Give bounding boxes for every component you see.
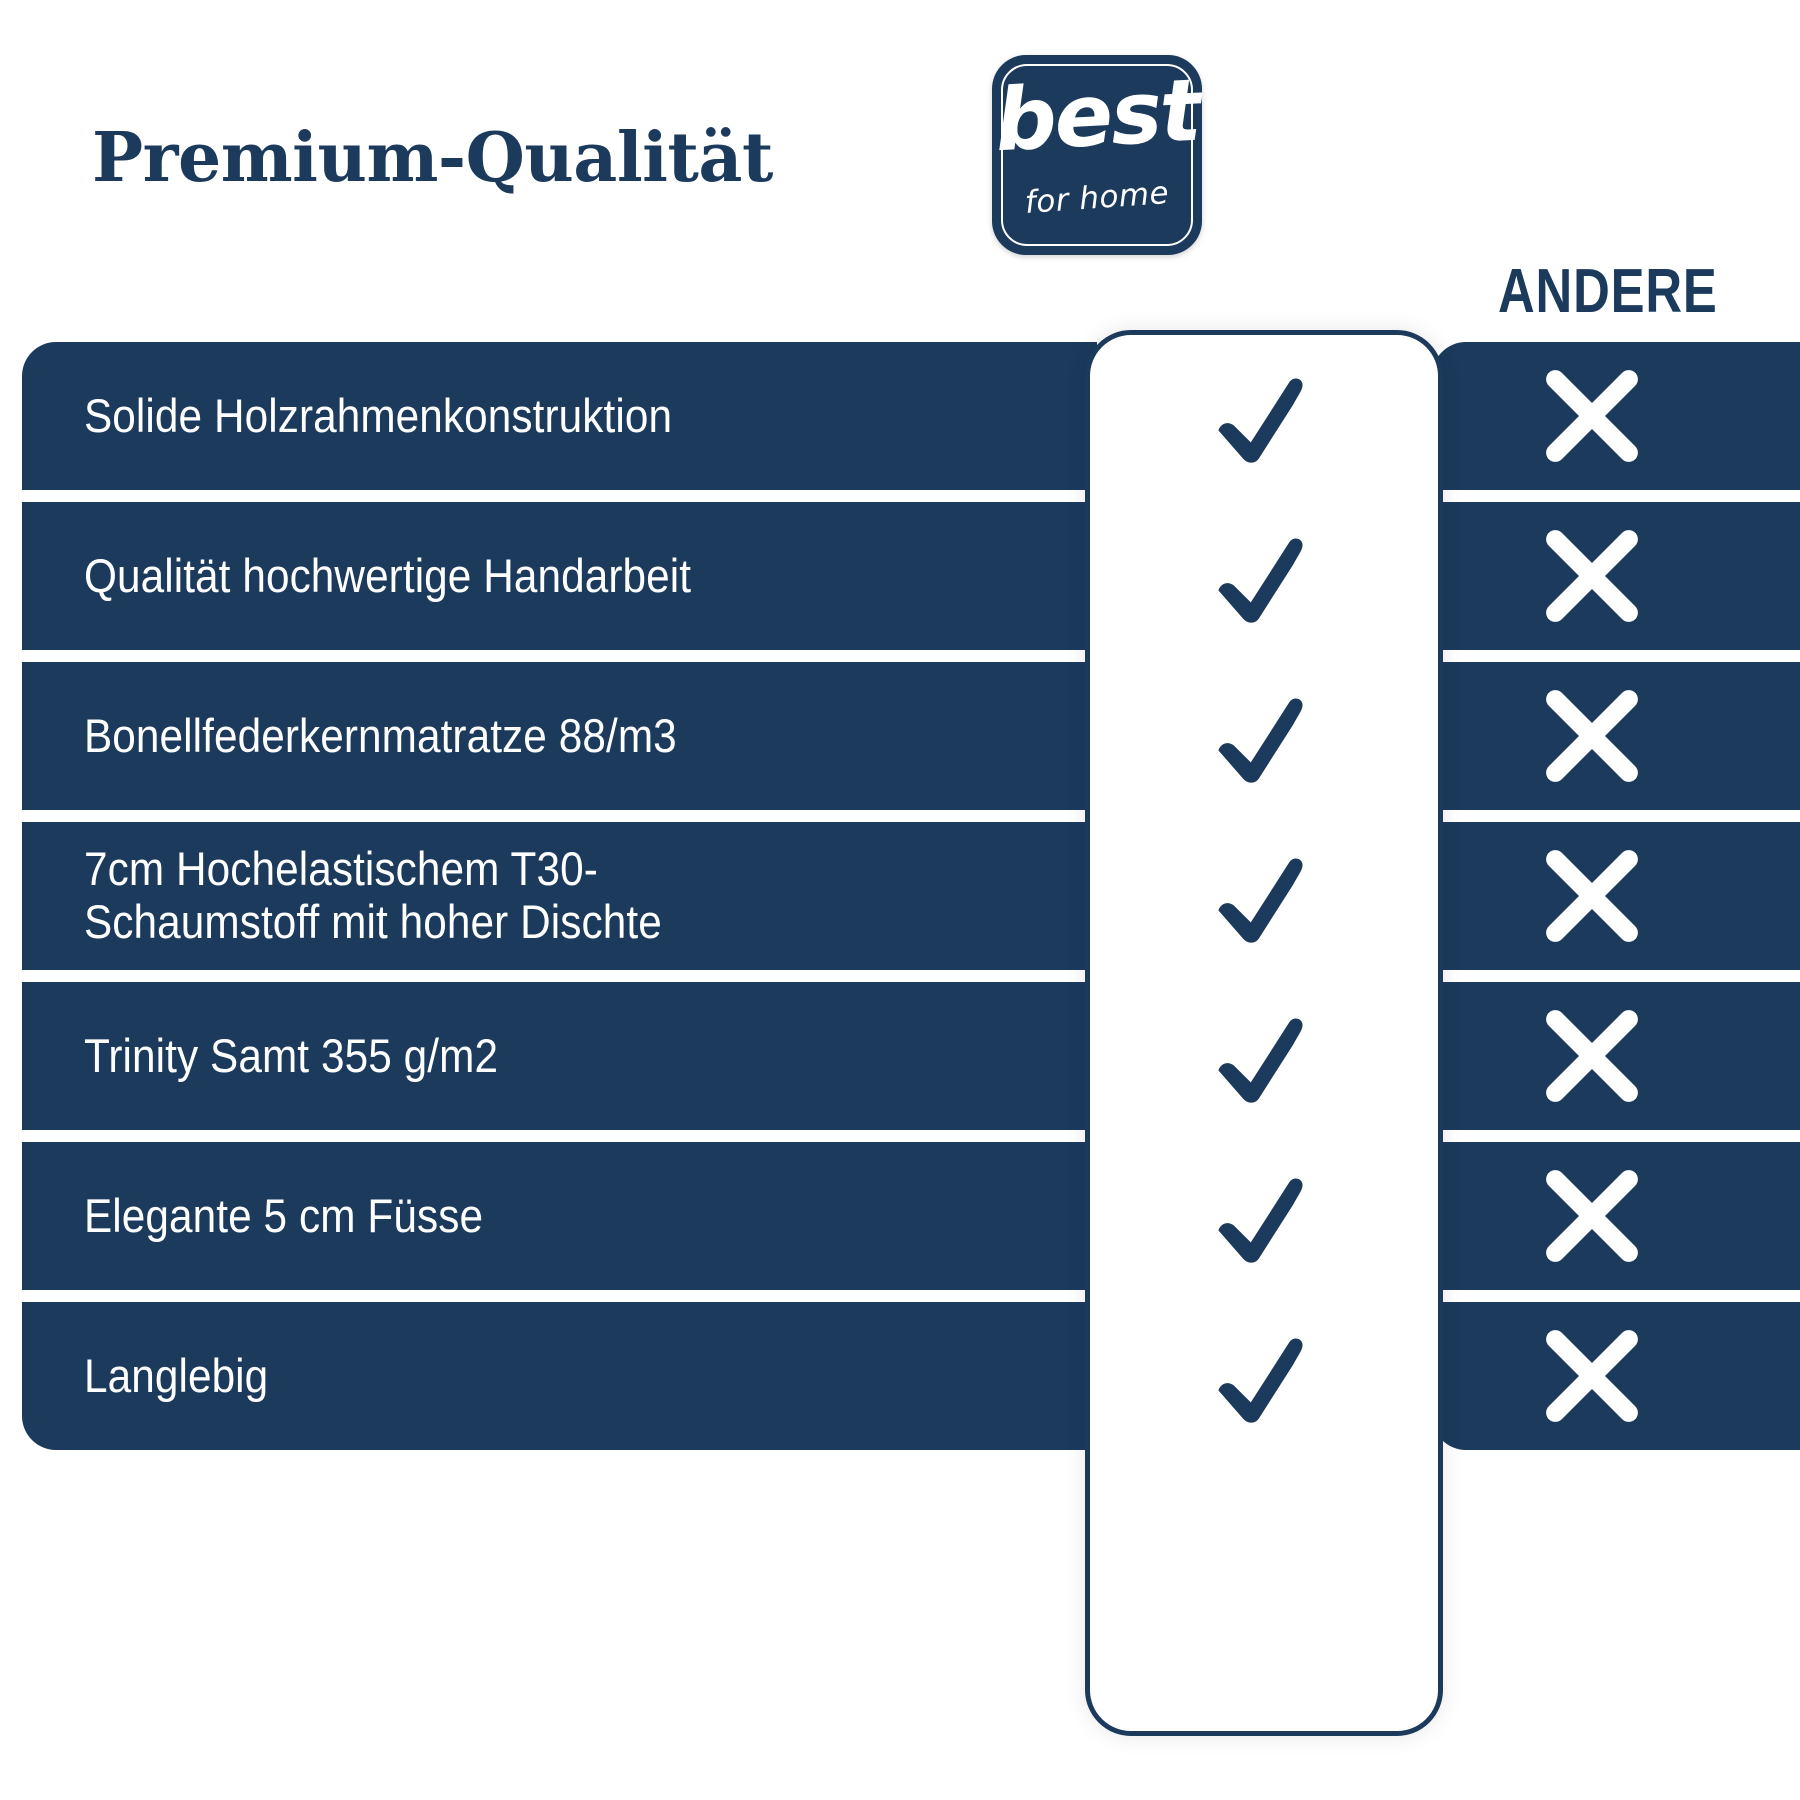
table-row: Qualität hochwertige Handarbeit [0, 502, 1800, 650]
page-title: Premium-Qualität [92, 118, 773, 198]
check-icon [1204, 1316, 1324, 1436]
brand-cell [1085, 662, 1443, 810]
feature-cell: Qualität hochwertige Handarbeit [22, 502, 1097, 650]
check-icon [1204, 356, 1324, 476]
competitor-cell [1432, 662, 1800, 810]
competitor-cell [1432, 982, 1800, 1130]
cross-icon [1538, 1162, 1646, 1270]
brand-column-marks [1085, 342, 1443, 1450]
table-row: Bonellfederkernmatratze 88/m3 [0, 662, 1800, 810]
feature-label: Qualität hochwertige Handarbeit [84, 550, 691, 603]
competitor-column-label: ANDERE [1498, 256, 1718, 327]
feature-label: Solide Holzrahmenkonstruktion [84, 390, 672, 443]
table-row: Elegante 5 cm Füsse [0, 1142, 1800, 1290]
brand-cell [1085, 982, 1443, 1130]
feature-label: Elegante 5 cm Füsse [84, 1190, 483, 1243]
check-icon [1204, 836, 1324, 956]
feature-label: Bonellfederkernmatratze 88/m3 [84, 710, 677, 763]
cross-icon [1538, 842, 1646, 950]
feature-cell: Trinity Samt 355 g/m2 [22, 982, 1097, 1130]
feature-label: 7cm Hochelastischem T30- Schaumstoff mit… [84, 843, 662, 948]
feature-cell: Bonellfederkernmatratze 88/m3 [22, 662, 1097, 810]
competitor-cell [1432, 822, 1800, 970]
brand-cell [1085, 342, 1443, 490]
feature-label: Trinity Samt 355 g/m2 [84, 1030, 498, 1083]
brand-logo: best for home [992, 55, 1202, 255]
check-icon [1204, 1156, 1324, 1276]
feature-cell: 7cm Hochelastischem T30- Schaumstoff mit… [22, 822, 1097, 970]
cross-icon [1538, 682, 1646, 790]
feature-cell: Langlebig [22, 1302, 1097, 1450]
competitor-cell [1432, 1302, 1800, 1450]
check-icon [1204, 996, 1324, 1116]
table-row: Langlebig [0, 1302, 1800, 1450]
comparison-table: Solide Holzrahmenkonstruktion Qualität h… [0, 342, 1800, 1450]
check-icon [1204, 516, 1324, 636]
cross-icon [1538, 522, 1646, 630]
cross-icon [1538, 362, 1646, 470]
table-row: 7cm Hochelastischem T30- Schaumstoff mit… [0, 822, 1800, 970]
brand-cell [1085, 1302, 1443, 1450]
competitor-cell [1432, 342, 1800, 490]
cross-icon [1538, 1322, 1646, 1430]
brand-cell [1085, 502, 1443, 650]
logo-primary-text: best [990, 68, 1204, 165]
feature-cell: Elegante 5 cm Füsse [22, 1142, 1097, 1290]
brand-cell [1085, 822, 1443, 970]
check-icon [1204, 676, 1324, 796]
feature-cell: Solide Holzrahmenkonstruktion [22, 342, 1097, 490]
cross-icon [1538, 1002, 1646, 1110]
table-row: Solide Holzrahmenkonstruktion [0, 342, 1800, 490]
table-row: Trinity Samt 355 g/m2 [0, 982, 1800, 1130]
brand-cell [1085, 1142, 1443, 1290]
feature-label: Langlebig [84, 1350, 268, 1403]
competitor-cell [1432, 1142, 1800, 1290]
competitor-cell [1432, 502, 1800, 650]
